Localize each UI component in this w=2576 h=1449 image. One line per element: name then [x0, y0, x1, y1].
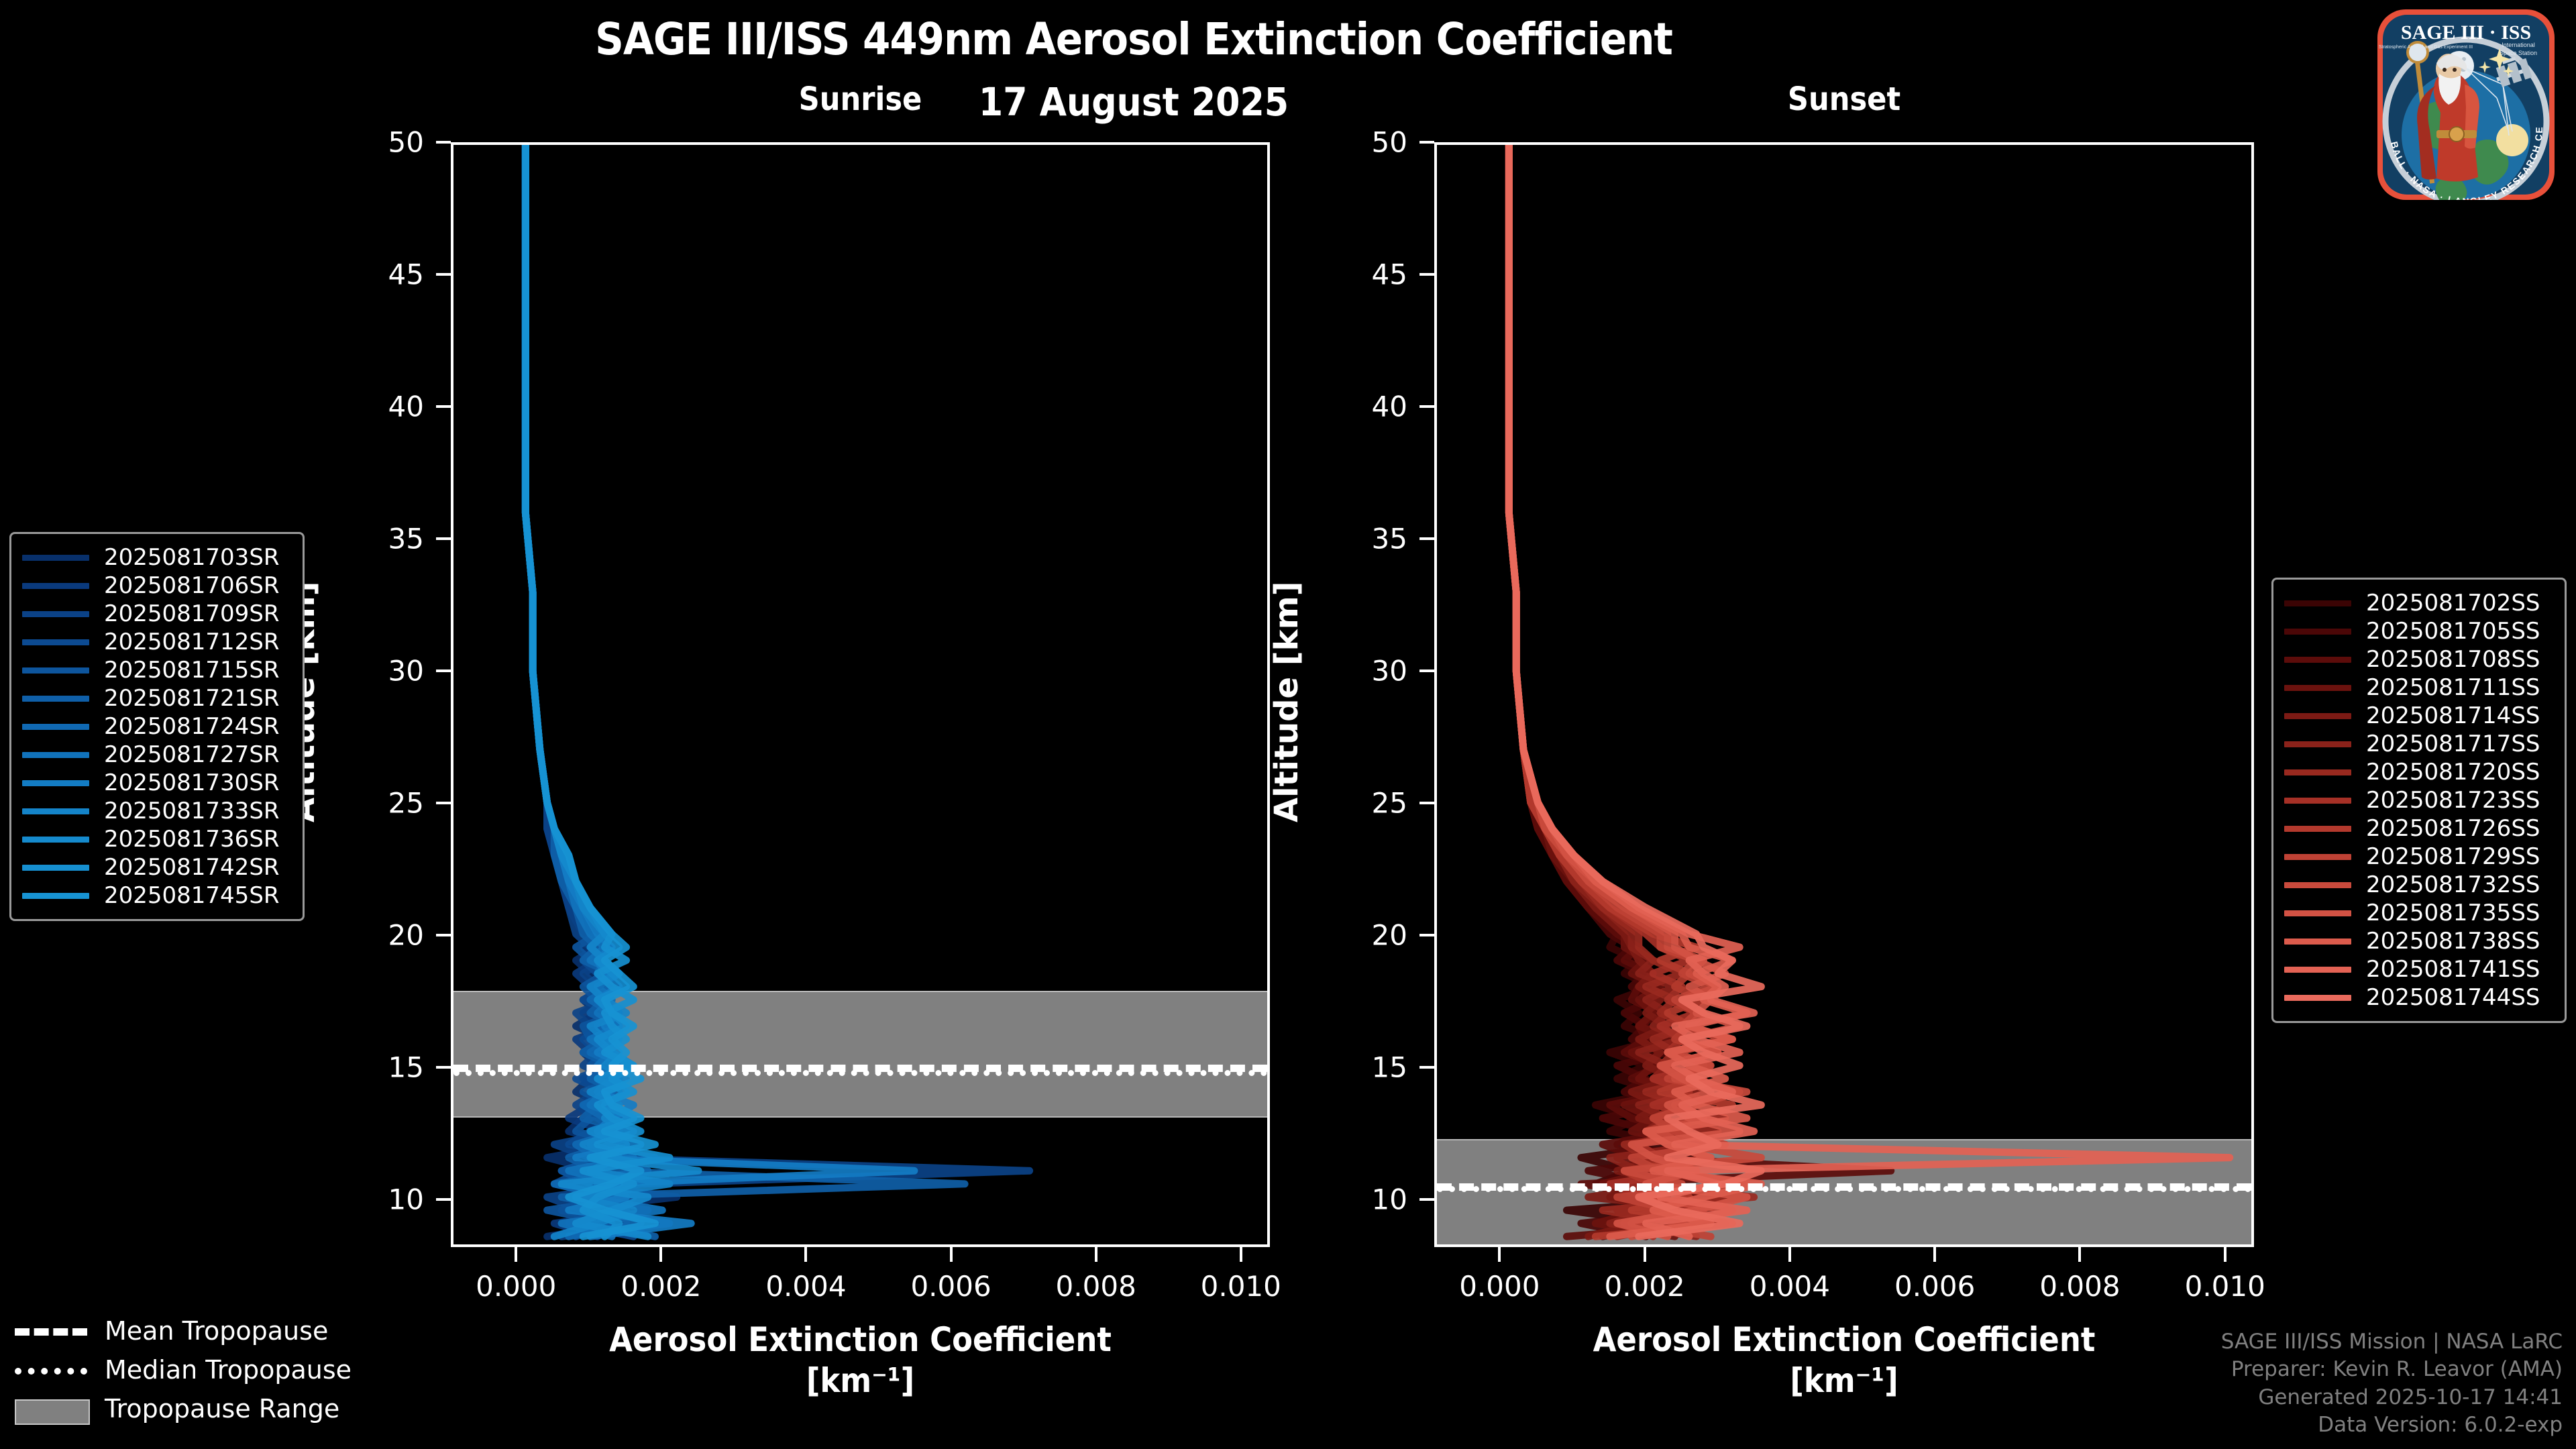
- y-tick-mark: [436, 669, 451, 672]
- credits-version: Data Version: 6.0.2-exp: [2221, 1411, 2563, 1440]
- legend-item-label: 2025081745SR: [104, 882, 280, 909]
- x-tick-label: 0.010: [2151, 1270, 2299, 1303]
- legend-color-swatch-icon: [2284, 854, 2351, 860]
- legend-color-swatch-icon: [2284, 713, 2351, 719]
- median-tropopause-line: [453, 1070, 1267, 1076]
- legend-item[interactable]: 2025081714SS: [2284, 702, 2554, 730]
- x-tick-mark: [1788, 1247, 1791, 1262]
- page-title: SAGE III/ISS 449nm Aerosol Extinction Co…: [0, 13, 2267, 65]
- y-tick-mark: [1419, 537, 1434, 540]
- y-tick-label: 45: [1320, 258, 1407, 291]
- y-tick-label: 30: [337, 655, 424, 688]
- patch-title: SAGE III · ISS: [2401, 21, 2531, 44]
- legend-item[interactable]: 2025081723SS: [2284, 786, 2554, 814]
- legend-item[interactable]: 2025081735SS: [2284, 899, 2554, 927]
- legend-color-swatch-icon: [2284, 798, 2351, 804]
- x-tick-label: 0.008: [1022, 1270, 1170, 1303]
- legend-item-mean-tropopause: Mean Tropopause: [15, 1311, 352, 1350]
- y-tick-mark: [1419, 141, 1434, 144]
- legend-color-swatch-icon: [2284, 967, 2351, 973]
- y-tick-mark: [436, 273, 451, 276]
- y-tick-mark: [436, 537, 451, 540]
- legend-item[interactable]: 2025081733SR: [22, 797, 292, 825]
- legend-color-swatch-icon: [22, 780, 89, 786]
- legend-color-swatch-icon: [2284, 769, 2351, 775]
- legend-item-label: 2025081736SR: [104, 826, 280, 853]
- y-tick-label: 10: [1320, 1183, 1407, 1216]
- legend-item-label: 2025081717SS: [2366, 731, 2540, 757]
- tropopause-legend: Mean Tropopause Median Tropopause Tropop…: [15, 1311, 352, 1428]
- legend-item-label: 2025081706SR: [104, 572, 280, 599]
- legend-item[interactable]: 2025081709SR: [22, 600, 292, 628]
- credits-block: SAGE III/ISS Mission | NASA LaRC Prepare…: [2221, 1328, 2563, 1440]
- y-tick-mark: [1419, 273, 1434, 276]
- legend-color-swatch-icon: [2284, 826, 2351, 832]
- sunset-plot-area: [1434, 142, 2254, 1247]
- sunrise-x-axis-label: Aerosol Extinction Coefficient [km⁻¹]: [317, 1320, 1404, 1401]
- y-tick-label: 15: [337, 1051, 424, 1084]
- y-tick-mark: [1419, 1066, 1434, 1069]
- x-tick-label: 0.008: [2006, 1270, 2153, 1303]
- legend-item[interactable]: 2025081702SS: [2284, 589, 2554, 617]
- x-tick-label: 0.000: [1426, 1270, 1573, 1303]
- y-tick-label: 20: [337, 919, 424, 952]
- credits-generated: Generated 2025-10-17 14:41: [2221, 1384, 2563, 1412]
- y-tick-label: 25: [1320, 787, 1407, 820]
- y-tick-label: 10: [337, 1183, 424, 1216]
- legend-color-swatch-icon: [22, 752, 89, 758]
- y-tick-mark: [436, 802, 451, 804]
- legend-item[interactable]: 2025081712SR: [22, 628, 292, 656]
- legend-item-label: 2025081714SS: [2366, 702, 2540, 729]
- legend-item-median-tropopause: Median Tropopause: [15, 1350, 352, 1389]
- legend-color-swatch-icon: [2284, 910, 2351, 916]
- y-tick-mark: [1419, 934, 1434, 936]
- legend-item-label: 2025081709SR: [104, 600, 280, 627]
- y-tick-label: 50: [337, 126, 424, 159]
- y-tick-mark: [1419, 405, 1434, 408]
- sunset-y-axis-label: Altitude [km]: [1268, 581, 1305, 822]
- y-tick-label: 25: [337, 787, 424, 820]
- y-tick-mark: [436, 1066, 451, 1069]
- legend-item[interactable]: 2025081745SR: [22, 881, 292, 910]
- legend-item[interactable]: 2025081727SR: [22, 741, 292, 769]
- legend-color-swatch-icon: [2284, 995, 2351, 1001]
- legend-color-swatch-icon: [2284, 685, 2351, 691]
- legend-item-label: 2025081735SS: [2366, 900, 2540, 926]
- legend-color-swatch-icon: [2284, 938, 2351, 945]
- x-tick-mark: [1095, 1247, 1097, 1262]
- x-tick-label: 0.002: [1571, 1270, 1719, 1303]
- sunset-plot-inner: [1437, 145, 2251, 1244]
- y-tick-mark: [436, 934, 451, 936]
- x-tick-mark: [515, 1247, 517, 1262]
- legend-item[interactable]: 2025081720SS: [2284, 758, 2554, 786]
- legend-item-label: 2025081721SR: [104, 685, 280, 712]
- legend-item[interactable]: 2025081711SS: [2284, 674, 2554, 702]
- legend-item[interactable]: 2025081717SS: [2284, 730, 2554, 758]
- y-tick-label: 15: [1320, 1051, 1407, 1084]
- legend-item[interactable]: 2025081724SR: [22, 712, 292, 741]
- legend-item[interactable]: 2025081741SS: [2284, 955, 2554, 983]
- tropopause-range-label: Tropopause Range: [105, 1394, 339, 1424]
- legend-color-swatch-icon: [22, 696, 89, 702]
- legend-item-label: 2025081715SR: [104, 657, 280, 684]
- x-axis-label-line1: Aerosol Extinction Coefficient: [317, 1320, 1404, 1360]
- x-tick-mark: [1498, 1247, 1501, 1262]
- patch-subtitle-right-1: International: [2502, 42, 2535, 48]
- x-tick-mark: [950, 1247, 953, 1262]
- legend-item[interactable]: 2025081744SS: [2284, 983, 2554, 1012]
- legend-item-label: 2025081702SS: [2366, 590, 2540, 616]
- y-tick-mark: [436, 141, 451, 144]
- x-tick-label: 0.006: [877, 1270, 1025, 1303]
- sunrise-plot-inner: [453, 145, 1267, 1244]
- legend-item-label: 2025081744SS: [2366, 984, 2540, 1011]
- y-tick-mark: [436, 405, 451, 408]
- legend-item[interactable]: 2025081703SR: [22, 543, 292, 572]
- legend-item-label: 2025081711SS: [2366, 674, 2540, 701]
- x-tick-mark: [659, 1247, 662, 1262]
- legend-item[interactable]: 2025081742SR: [22, 853, 292, 881]
- legend-item[interactable]: 2025081738SS: [2284, 927, 2554, 955]
- y-tick-label: 45: [337, 258, 424, 291]
- legend-color-swatch-icon: [22, 583, 89, 589]
- x-tick-mark: [2224, 1247, 2226, 1262]
- legend-item[interactable]: 2025081736SR: [22, 825, 292, 853]
- legend-color-swatch-icon: [22, 808, 89, 814]
- dashed-line-icon: [15, 1323, 87, 1339]
- median-tropopause-label: Median Tropopause: [105, 1355, 352, 1385]
- profile-curves: [1437, 145, 2251, 1244]
- legend-item-label: 2025081742SR: [104, 854, 280, 881]
- x-tick-label: 0.004: [1716, 1270, 1864, 1303]
- y-tick-label: 30: [1320, 655, 1407, 688]
- legend-color-swatch-icon: [2284, 600, 2351, 606]
- x-tick-mark: [1933, 1247, 1936, 1262]
- legend-item-label: 2025081733SR: [104, 798, 280, 824]
- x-tick-label: 0.002: [587, 1270, 735, 1303]
- x-tick-label: 0.000: [442, 1270, 590, 1303]
- x-tick-label: 0.004: [732, 1270, 879, 1303]
- credits-preparer: Preparer: Kevin R. Leavor (AMA): [2221, 1356, 2563, 1384]
- legend-item-label: 2025081732SS: [2366, 871, 2540, 898]
- y-tick-label: 35: [1320, 523, 1407, 555]
- legend-item-label: 2025081703SR: [104, 544, 280, 571]
- x-tick-label: 0.010: [1167, 1270, 1315, 1303]
- mean-tropopause-label: Mean Tropopause: [105, 1316, 328, 1346]
- y-tick-label: 40: [1320, 390, 1407, 423]
- legend-color-swatch-icon: [2284, 882, 2351, 888]
- sunrise-panel-title: Sunrise: [357, 80, 1364, 118]
- y-tick-mark: [436, 1198, 451, 1201]
- legend-item[interactable]: 2025081715SR: [22, 656, 292, 684]
- legend-item-label: 2025081723SS: [2366, 787, 2540, 814]
- legend-item-label: 2025081724SR: [104, 713, 280, 740]
- legend-color-swatch-icon: [22, 724, 89, 730]
- legend-item-label: 2025081727SR: [104, 741, 280, 768]
- legend-color-swatch-icon: [22, 555, 89, 561]
- legend-item[interactable]: 2025081706SR: [22, 572, 292, 600]
- legend-color-swatch-icon: [22, 611, 89, 617]
- sage-iii-iss-mission-patch-icon: SAGE III · ISS Stratospheric Aerosol and…: [2365, 4, 2567, 205]
- legend-item-label: 2025081729SS: [2366, 843, 2540, 870]
- y-tick-mark: [1419, 669, 1434, 672]
- legend-color-swatch-icon: [22, 865, 89, 871]
- legend-item[interactable]: 2025081726SS: [2284, 814, 2554, 843]
- dotted-line-icon: [15, 1362, 87, 1378]
- patch-subtitle-left: Stratospheric Aerosol and Gas Experiment…: [2379, 45, 2473, 50]
- legend-color-swatch-icon: [2284, 629, 2351, 635]
- x-tick-mark: [2078, 1247, 2081, 1262]
- sunset-series-legend[interactable]: 2025081702SS2025081705SS2025081708SS2025…: [2271, 578, 2567, 1023]
- legend-item-label: 2025081741SS: [2366, 956, 2540, 983]
- x-tick-label: 0.006: [1861, 1270, 2008, 1303]
- legend-item[interactable]: 2025081729SS: [2284, 843, 2554, 871]
- x-axis-label-line2: [km⁻¹]: [317, 1360, 1404, 1401]
- sunset-panel-title: Sunset: [1340, 80, 2348, 118]
- patch-subtitle-right-2: Space Station: [2500, 50, 2537, 56]
- legend-item-label: 2025081712SR: [104, 629, 280, 655]
- y-tick-label: 20: [1320, 919, 1407, 952]
- profile-line: [1509, 145, 2229, 1236]
- y-tick-label: 35: [337, 523, 424, 555]
- y-tick-mark: [1419, 802, 1434, 804]
- legend-item[interactable]: 2025081708SS: [2284, 645, 2554, 674]
- legend-item-label: 2025081730SR: [104, 769, 280, 796]
- gray-swatch-icon: [15, 1401, 87, 1417]
- legend-item[interactable]: 2025081721SR: [22, 684, 292, 712]
- legend-item-tropopause-range: Tropopause Range: [15, 1389, 352, 1428]
- credits-mission: SAGE III/ISS Mission | NASA LaRC: [2221, 1328, 2563, 1356]
- legend-color-swatch-icon: [22, 667, 89, 674]
- sunrise-plot-area: [451, 142, 1270, 1247]
- legend-item-label: 2025081726SS: [2366, 815, 2540, 842]
- y-tick-mark: [1419, 1198, 1434, 1201]
- y-tick-label: 50: [1320, 126, 1407, 159]
- profile-curves: [453, 145, 1267, 1244]
- x-tick-mark: [1644, 1247, 1646, 1262]
- legend-item[interactable]: 2025081705SS: [2284, 617, 2554, 645]
- legend-item-label: 2025081708SS: [2366, 646, 2540, 673]
- legend-item-label: 2025081720SS: [2366, 759, 2540, 786]
- legend-color-swatch-icon: [22, 837, 89, 843]
- legend-color-swatch-icon: [2284, 657, 2351, 663]
- x-tick-mark: [1240, 1247, 1242, 1262]
- legend-item[interactable]: 2025081732SS: [2284, 871, 2554, 899]
- legend-color-swatch-icon: [2284, 741, 2351, 747]
- legend-item[interactable]: 2025081730SR: [22, 769, 292, 797]
- legend-color-swatch-icon: [22, 639, 89, 645]
- y-tick-label: 40: [337, 390, 424, 423]
- legend-item-label: 2025081738SS: [2366, 928, 2540, 955]
- x-tick-mark: [804, 1247, 807, 1262]
- legend-color-swatch-icon: [22, 893, 89, 899]
- legend-item-label: 2025081705SS: [2366, 618, 2540, 645]
- median-tropopause-line: [1437, 1186, 2251, 1192]
- sunrise-series-legend[interactable]: 2025081703SR2025081706SR2025081709SR2025…: [9, 532, 305, 921]
